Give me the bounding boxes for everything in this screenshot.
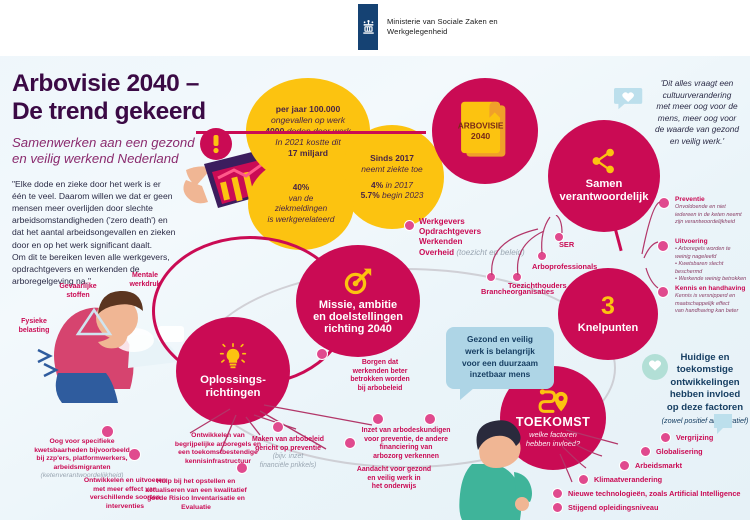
connector-trunk-top (196, 131, 426, 134)
node-knelpunten-label: Knelpunten (578, 322, 639, 334)
ministry-logo: Ministerie van Sociale Zaken en Werkgele… (358, 4, 498, 50)
stat-bubble-ziekte: Sinds 2017 neemt ziekte toe 4% in 2017 5… (340, 125, 444, 229)
factor-dot-vergrijzing (660, 432, 671, 443)
stat-line: ziekmeldingen (254, 204, 348, 215)
knelpunt-kennis-handhaving: Kennis en handhaving Kennis is versnippe… (675, 285, 750, 316)
toekomst-heading-note: (zowel positief als negatief) (660, 416, 750, 425)
oplossing-dot-kwetsbaarheden (101, 425, 114, 438)
ministry-name-line2: Werkgelegenheid (387, 27, 498, 37)
heart-chat-icon (614, 86, 644, 113)
toekomst-panel-heading: Huidige en toekomstige ontwikkelingen he… (660, 352, 750, 425)
node-missie-label: Missie, ambitie en doelstellingen richti… (313, 299, 403, 336)
factor-dot-arbeidsmarkt (619, 460, 630, 471)
bubble-gezond-veilig-text: Gezond en veilig werk is belangrijk voor… (454, 334, 546, 381)
stat-line: neemt ziekte toe (348, 164, 436, 175)
knelpunten-count: 3 (601, 294, 615, 319)
risk-label-gevaarlijke-stoffen: Gevaarlijke stoffen (42, 283, 114, 301)
knelpunt-uitvoering-body: • Arboregels worden te weinig nageleefd … (675, 246, 750, 283)
toekomst-heading-text: Huidige en toekomstige ontwikkelingen he… (660, 352, 750, 414)
factor-dot-opleidingsniveau (552, 502, 563, 513)
infographic-canvas: Ministerie van Sociale Zaken en Werkgele… (0, 0, 750, 520)
bubble-gezond-veilig: Gezond en veilig werk is belangrijk voor… (446, 327, 554, 389)
node-missie-ambitie[interactable]: Missie, ambitie en doelstellingen richti… (296, 245, 420, 357)
knelpunt-connector-lines (640, 196, 680, 306)
lightbulb-icon (219, 343, 247, 371)
node-arbovisie-2040[interactable]: ARBOVISIE 2040 (432, 78, 538, 184)
knelpunt-uitvoering-title: Uitvoering (675, 238, 750, 246)
stat-line: 4% in 2017 (348, 180, 436, 191)
stat-line: ongevallen op werk (254, 115, 362, 126)
oplossing-borgen: Borgen dat werkenden beter betrokken wor… (330, 359, 430, 394)
node-samen-label: Samen verantwoordelijk (560, 178, 649, 203)
stat-line: 5.7% begin 2023 (348, 190, 436, 201)
oplossing-dot-borgen (316, 348, 328, 360)
factor-dot-klimaatverandering (578, 474, 589, 485)
factor-vergrijzing: Vergrijzing (676, 433, 713, 442)
factor-klimaatverandering: Klimaatverandering (594, 475, 662, 484)
ministry-name: Ministerie van Sociale Zaken en Werkgele… (387, 17, 498, 38)
knelpunt-kennis-title: Kennis en handhaving (675, 285, 750, 293)
factor-dot-globalisering (640, 446, 651, 457)
book-icon-line1: ARBOVISIE (458, 120, 504, 130)
book-icon: ARBOVISIE 2040 (454, 98, 516, 164)
stat-line: van de (254, 194, 348, 205)
speech-tail-accent-icon (712, 412, 734, 438)
stakeholder-connector-lines (470, 215, 600, 295)
oplossing-arbobeleid: Maken van arbobeleid gericht op preventi… (232, 436, 344, 471)
netherlands-crest-icon (361, 19, 376, 36)
factor-opleidingsniveau: Stijgend opleidingsniveau (568, 503, 658, 512)
knelpunt-kennis-body: Kennis is versnipperd en maatschappelijk… (675, 293, 750, 315)
knelpunt-preventie-body: Onvoldoende en niet iedereen in de keten… (675, 204, 749, 226)
stakeholder-primary-dot (404, 220, 415, 231)
stat-line: 40% (254, 183, 348, 194)
oplossing-dot-arbodeskundigen (372, 413, 384, 425)
oplossing-onderwijs: Aandacht voor gezond en veilig werk in h… (330, 466, 458, 492)
eco-heart-badge-icon (640, 352, 670, 382)
stat-line: per jaar 100.000 (254, 104, 362, 115)
factor-globalisering: Globalisering (656, 447, 703, 456)
bubble-cultuurverandering: 'Dit alles vraagt een cultuurverandering… (614, 78, 748, 174)
risk-label-fysieke-belasting: Fysieke belasting (4, 318, 64, 336)
book-icon-line2: 2040 (471, 131, 490, 141)
stat-line: In 2021 kostte dit (254, 137, 362, 148)
stat-line: Sinds 2017 (348, 153, 436, 164)
bubble-cultuurverandering-text: 'Dit alles vraagt een cultuurverandering… (646, 78, 748, 148)
factor-arbeidsmarkt: Arbeidsmarkt (635, 461, 682, 470)
knelpunt-preventie: Preventie Onvoldoende en niet iedereen i… (675, 196, 749, 227)
factor-dot-technologie (552, 488, 563, 499)
thinking-person-illustration (452, 398, 544, 520)
target-arrow-icon (343, 267, 373, 295)
page-title: Arbovisie 2040 – De trend gekeerd (12, 70, 257, 126)
knelpunt-uitvoering: Uitvoering • Arboregels worden te weinig… (675, 238, 750, 283)
ministry-logo-bar (358, 4, 378, 50)
oplossing-rie: Hulp bij het opstellen en actualiseren v… (126, 478, 266, 512)
oplossing-dot-kennisinfra (424, 413, 436, 425)
stat-line: is werkgerelateerd (254, 215, 348, 226)
oplossing-kwetsbaarheden: Oog voor specifieke kwetsbaarheden bijvo… (16, 438, 148, 481)
knelpunt-preventie-title: Preventie (675, 196, 749, 204)
ministry-name-line1: Ministerie van Sociale Zaken en (387, 17, 498, 27)
factor-technologie: Nieuwe technologieën, zoals Artificial I… (568, 489, 740, 498)
